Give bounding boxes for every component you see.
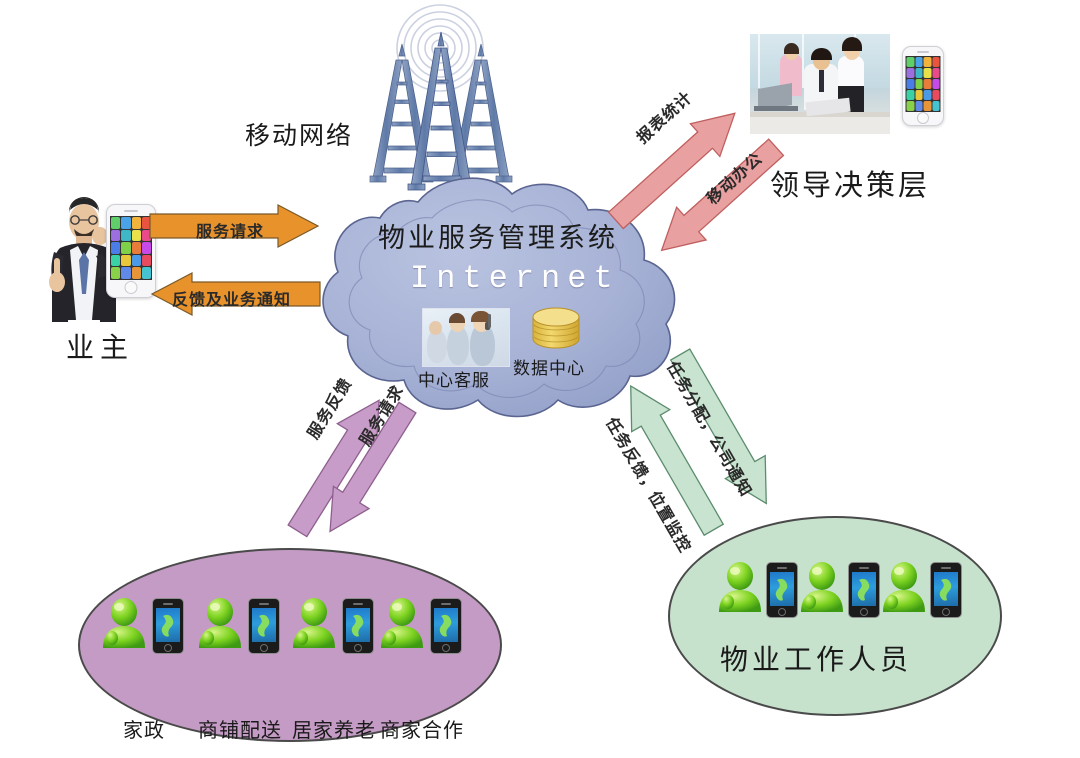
call-center-photo: [422, 308, 510, 367]
staff-ellipse-group: 物业工作人员: [668, 516, 998, 712]
iphone-icon: [106, 204, 156, 298]
mobile-phone-icon: [342, 598, 374, 654]
arrow-label-cloud-to-owner: 反馈及业务通知: [172, 286, 291, 310]
person-avatar-icon: [378, 596, 426, 654]
services-ellipse-group: 家政 商铺配送: [78, 548, 498, 738]
arrow-label-owner-to-cloud: 服务请求: [196, 218, 264, 242]
service-item[interactable]: 家政: [100, 596, 194, 674]
mobile-phone-icon: [848, 562, 880, 618]
service-label: 商家合作: [370, 714, 474, 743]
office-meeting-photo: [750, 34, 890, 134]
staff-member[interactable]: [716, 560, 808, 630]
person-avatar-icon: [290, 596, 338, 654]
mobile-phone-icon: [430, 598, 462, 654]
mobile-phone-icon: [248, 598, 280, 654]
person-avatar-icon: [196, 596, 244, 654]
mobile-phone-icon: [930, 562, 962, 618]
person-avatar-icon: [880, 560, 928, 618]
mobile-phone-icon: [152, 598, 184, 654]
person-avatar-icon: [100, 596, 148, 654]
service-item[interactable]: 商家合作: [378, 596, 472, 674]
mobile-phone-icon: [766, 562, 798, 618]
staff-member[interactable]: [880, 560, 972, 630]
iphone-icon: [902, 46, 944, 126]
service-item[interactable]: 居家养老: [290, 596, 384, 674]
cloud-subtitle: Internet: [410, 260, 620, 297]
mobile-network-label: 移动网络: [245, 116, 353, 152]
person-avatar-icon: [798, 560, 846, 618]
service-label: 商铺配送: [188, 714, 292, 743]
staff-member[interactable]: [798, 560, 890, 630]
person-avatar-icon: [716, 560, 764, 618]
data-center-label: 数据中心: [513, 354, 585, 379]
database-icon: [530, 308, 582, 350]
cloud-title: 物业服务管理系统: [378, 216, 618, 255]
staff-label: 物业工作人员: [720, 638, 912, 678]
service-item[interactable]: 商铺配送: [196, 596, 290, 674]
service-label: 家政: [92, 714, 196, 743]
owner-label: 业主: [66, 326, 134, 366]
diagram-canvas: 移动网络 物业服务管理系统 Internet: [0, 0, 1080, 758]
